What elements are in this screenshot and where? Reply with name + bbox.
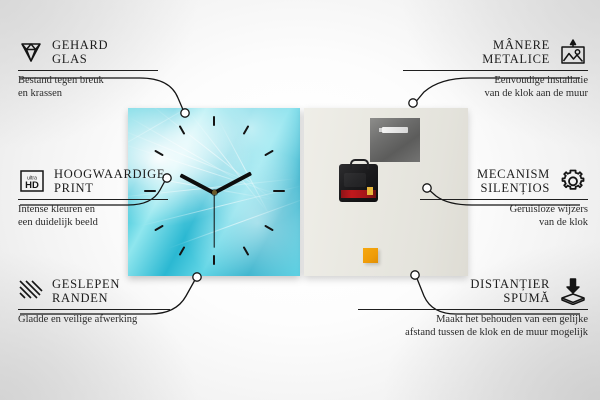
battery-plus-mark <box>367 187 373 195</box>
feature-header: GEHARD GLAS <box>18 38 188 66</box>
quartz-mechanism-part <box>339 164 378 202</box>
feature-title: DISTANȚIER SPUMĂ <box>470 277 550 305</box>
diamond-icon <box>18 40 44 64</box>
feature-rule <box>18 70 158 71</box>
feature-subtitle: Geruisloze wijzers van de klok <box>408 204 588 229</box>
feature-subtitle: Maakt het behouden van een gelijke afsta… <box>348 314 588 339</box>
infographic-canvas: GEHARD GLAS Bestand tegen breuk en krass… <box>0 0 600 400</box>
wire-node-manere-metalice <box>409 99 417 107</box>
feature-rule <box>403 70 588 71</box>
feature-header: MECANISM SILENȚIOS <box>408 167 588 195</box>
ultra-hd-icon: ultra HD <box>18 168 46 194</box>
clock-tick-3 <box>273 190 285 192</box>
feature-subtitle: Eenvoudige installatie van de klok aan d… <box>388 75 588 100</box>
feature-rule <box>358 309 588 310</box>
picture-hanger-icon <box>558 38 588 66</box>
mechanism-shade <box>344 173 366 187</box>
spacer-press-icon <box>558 277 588 305</box>
feature-header: ultra HD HOOGWAARDIGE PRINT <box>18 167 208 195</box>
metal-hanger-part <box>370 118 420 162</box>
feature-rule <box>420 199 588 200</box>
feature-title: GESLEPEN RANDEN <box>52 277 120 305</box>
clock-second-hand <box>213 193 214 248</box>
clock-tick-6 <box>213 255 215 265</box>
feature-hoogwaardige-print[interactable]: ultra HD HOOGWAARDIGE PRINT Intense kleu… <box>18 167 208 229</box>
feature-title: GEHARD GLAS <box>52 38 108 66</box>
svg-text:HD: HD <box>25 180 39 191</box>
foam-spacer-part <box>363 248 378 263</box>
feature-manere-metalice[interactable]: MÂNERE METALICE Eenvoudige installatie <box>388 38 588 100</box>
feature-gehard-glas[interactable]: GEHARD GLAS Bestand tegen breuk en krass… <box>18 38 188 100</box>
gear-icon <box>558 167 588 195</box>
feature-subtitle: Gladde en veilige afwerking <box>18 314 198 327</box>
feature-title: MÂNERE METALICE <box>482 38 550 66</box>
feature-rule <box>18 199 168 200</box>
feature-geslepen-randen[interactable]: GESLEPEN RANDEN Gladde en veilige afwerk… <box>18 277 198 327</box>
feature-subtitle: Bestand tegen breuk en krassen <box>18 75 188 100</box>
clock-tick-12 <box>213 116 215 126</box>
feature-header: MÂNERE METALICE <box>388 38 588 66</box>
beveled-edge-icon <box>18 279 44 303</box>
feature-mecanism-silentios[interactable]: MECANISM SILENȚIOS Geruisloze wijzers va… <box>408 167 588 229</box>
hanger-slot <box>382 127 408 133</box>
feature-title: HOOGWAARDIGE PRINT <box>54 167 165 195</box>
feature-subtitle: Intense kleuren en een duidelijk beeld <box>18 204 208 229</box>
clock-hub <box>212 190 217 195</box>
clock-tick-7 <box>179 246 186 256</box>
feature-header: DISTANȚIER SPUMĂ <box>348 277 588 305</box>
mechanism-battery-label <box>341 190 376 198</box>
feature-header: GESLEPEN RANDEN <box>18 277 198 305</box>
feature-distantier-spuma[interactable]: DISTANȚIER SPUMĂ Maakt het behouden van … <box>348 277 588 339</box>
feature-rule <box>18 309 170 310</box>
mechanism-loop <box>350 159 369 169</box>
feature-title: MECANISM SILENȚIOS <box>477 167 550 195</box>
